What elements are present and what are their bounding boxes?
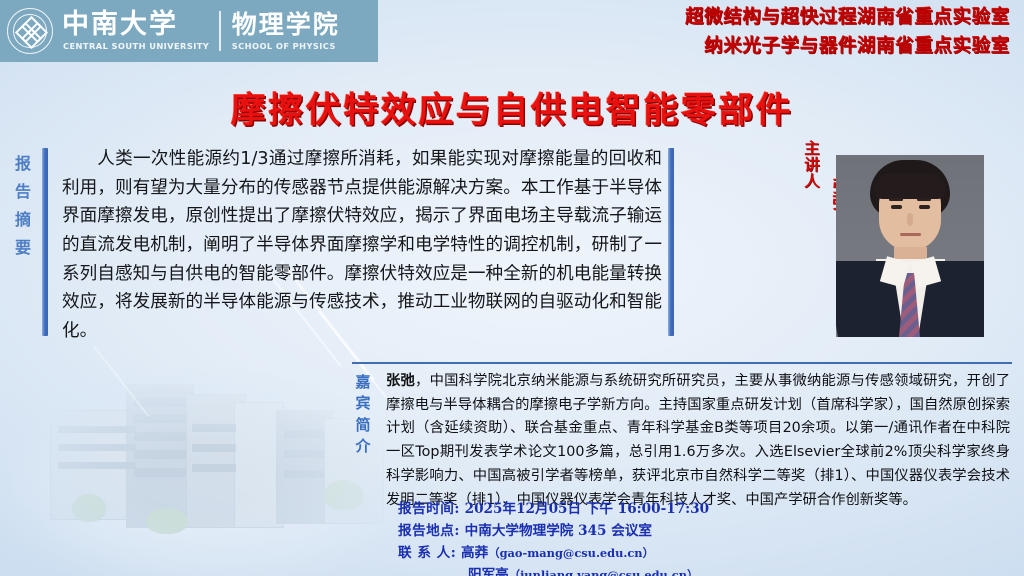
key-laboratory-names: 超微结构与超快过程湖南省重点实验室 纳米光子学与器件湖南省重点实验室 — [685, 4, 1010, 61]
contact-2-email[interactable]: （junliang.yang@csu.edu.cn） — [509, 568, 699, 576]
school-name-block: 物理学院 SCHOOL OF PHYSICS — [232, 12, 340, 51]
event-details: 报告时间: 2025年12月05日 下午 16:00-17:30 报告地点: 中… — [398, 498, 709, 576]
event-time-row: 报告时间: 2025年12月05日 下午 16:00-17:30 — [398, 498, 709, 520]
csu-emblem-icon — [7, 8, 53, 54]
event-place-value: 中南大学物理学院 345 会议室 — [465, 523, 652, 539]
contact-1-name: 高莽 — [461, 545, 488, 561]
contact-2-name: 阳军亮 — [468, 567, 509, 576]
campus-building-photo — [0, 352, 394, 576]
contact-1-email[interactable]: （gao-mang@csu.edu.cn） — [488, 546, 654, 560]
event-contact-label: 联 系 人: — [398, 545, 456, 561]
university-name-cn: 中南大学 — [62, 11, 209, 38]
university-name-block: 中南大学 CENTRAL SOUTH UNIVERSITY — [53, 11, 209, 51]
event-contact-row-2: 阳军亮（junliang.yang@csu.edu.cn） — [398, 564, 709, 576]
university-header-bar: 中南大学 CENTRAL SOUTH UNIVERSITY 物理学院 SCHOO… — [0, 0, 378, 62]
speaker-portrait — [836, 155, 984, 337]
event-place-label: 报告地点: — [398, 523, 460, 539]
abstract-text: 人类一次性能源约1/3通过摩擦所消耗，如果能实现对摩擦能量的回收和利用，则有望为… — [62, 145, 662, 346]
event-place-row: 报告地点: 中南大学物理学院 345 会议室 — [398, 520, 709, 542]
bio-label: 嘉宾简介 — [352, 372, 374, 457]
university-name-en: CENTRAL SOUTH UNIVERSITY — [63, 41, 209, 51]
lab-name-1: 超微结构与超快过程湖南省重点实验室 — [685, 4, 1010, 33]
header-divider — [219, 11, 221, 51]
school-name-cn: 物理学院 — [232, 12, 340, 37]
speaker-role-label: 主讲人 — [800, 140, 822, 190]
bio-text: ，中国科学院北京纳米能源与系统研究所研究员，主要从事微纳能源与传感领域研究，开创… — [386, 373, 1010, 508]
abstract-right-bar — [668, 148, 674, 336]
event-time-label: 报告时间: — [398, 501, 460, 517]
abstract-label: 报告摘要 — [12, 150, 34, 262]
seminar-poster: 中南大学 CENTRAL SOUTH UNIVERSITY 物理学院 SCHOO… — [0, 0, 1024, 576]
bio-body: 张弛，中国科学院北京纳米能源与系统研究所研究员，主要从事微纳能源与传感领域研究，… — [386, 370, 1010, 512]
event-time-value: 2025年12月05日 下午 16:00-17:30 — [465, 501, 709, 517]
lab-name-2: 纳米光子学与器件湖南省重点实验室 — [685, 33, 1010, 62]
event-contact-row-1: 联 系 人: 高莽（gao-mang@csu.edu.cn） — [398, 542, 709, 564]
seminar-title: 摩擦伏特效应与自供电智能零部件 — [0, 82, 1024, 133]
abstract-left-bar — [42, 148, 48, 336]
school-name-en: SCHOOL OF PHYSICS — [232, 41, 340, 51]
abstract-body: 人类一次性能源约1/3通过摩擦所消耗，如果能实现对摩擦能量的回收和利用，则有望为… — [62, 145, 662, 346]
bio-speaker-name: 张弛 — [386, 373, 415, 389]
section-divider — [352, 362, 1012, 364]
